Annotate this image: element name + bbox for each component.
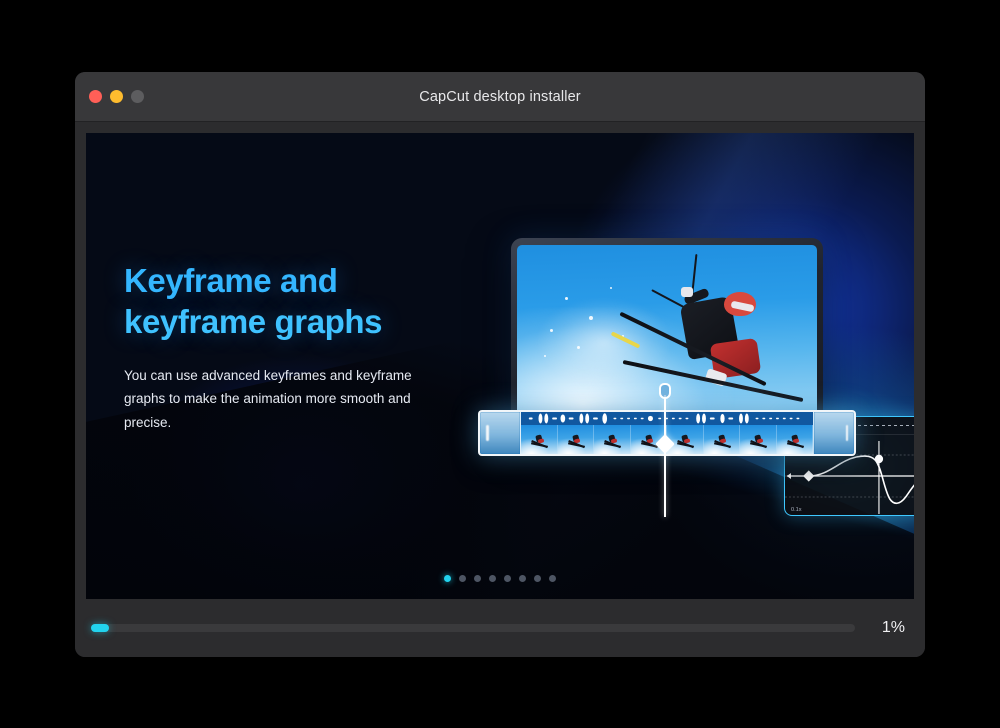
timeline-thumbnail [667, 425, 704, 454]
carousel-dot-4[interactable] [489, 575, 496, 582]
promo-headline: Keyframe and keyframe graphs [124, 261, 454, 342]
minimize-button-icon[interactable] [110, 90, 123, 103]
timeline-thumbnail [521, 425, 558, 454]
progress-bar-fill [91, 624, 109, 632]
snow-particle [577, 346, 580, 349]
window-controls[interactable] [89, 90, 144, 103]
window-titlebar[interactable]: CapCut desktop installer [75, 72, 925, 122]
headline-line-1: Keyframe and [124, 262, 337, 299]
desktop-background: CapCut desktop installer Keyframe and ke… [0, 0, 1000, 728]
timeline-trim-handle-right[interactable] [814, 412, 854, 454]
carousel-dot-2[interactable] [459, 575, 466, 582]
carousel-dot-1[interactable] [444, 575, 451, 582]
timeline-playhead[interactable] [664, 395, 666, 517]
timeline-thumbnail [558, 425, 595, 454]
slide-container: Keyframe and keyframe graphs You can use… [75, 122, 925, 599]
carousel-dot-6[interactable] [519, 575, 526, 582]
timeline-trim-handle-left[interactable] [480, 412, 520, 454]
trim-handle-icon[interactable] [846, 425, 849, 441]
skier-glove [681, 287, 693, 297]
carousel-dot-7[interactable] [534, 575, 541, 582]
carousel-dot-5[interactable] [504, 575, 511, 582]
headline-line-2: keyframe graphs [124, 302, 454, 343]
promo-body-text: You can use advanced keyframes and keyfr… [124, 364, 454, 434]
timeline-thumbnail [704, 425, 741, 454]
carousel-dot-8[interactable] [549, 575, 556, 582]
installer-window: CapCut desktop installer Keyframe and ke… [75, 72, 925, 657]
promo-slide: Keyframe and keyframe graphs You can use… [86, 133, 914, 599]
snow-particle [610, 287, 612, 289]
timeline-thumbnail [594, 425, 631, 454]
progress-bar [91, 624, 855, 632]
zoom-button-icon [131, 90, 144, 103]
snow-particle [550, 329, 553, 332]
trim-handle-icon[interactable] [486, 425, 489, 441]
playhead-knob-icon[interactable] [659, 383, 671, 399]
progress-percent-label: 1% [869, 619, 905, 637]
installer-footer: 1% [75, 599, 925, 657]
snow-particle [544, 355, 546, 357]
timeline-thumbnail [740, 425, 777, 454]
timeline-thumbnail [777, 425, 814, 454]
audio-waveform [521, 412, 813, 425]
promo-copy: Keyframe and keyframe graphs You can use… [124, 261, 454, 434]
device-mockup [511, 238, 823, 428]
window-title: CapCut desktop installer [75, 89, 925, 105]
close-button-icon[interactable] [89, 90, 102, 103]
carousel-dots[interactable] [86, 575, 914, 582]
carousel-dot-3[interactable] [474, 575, 481, 582]
